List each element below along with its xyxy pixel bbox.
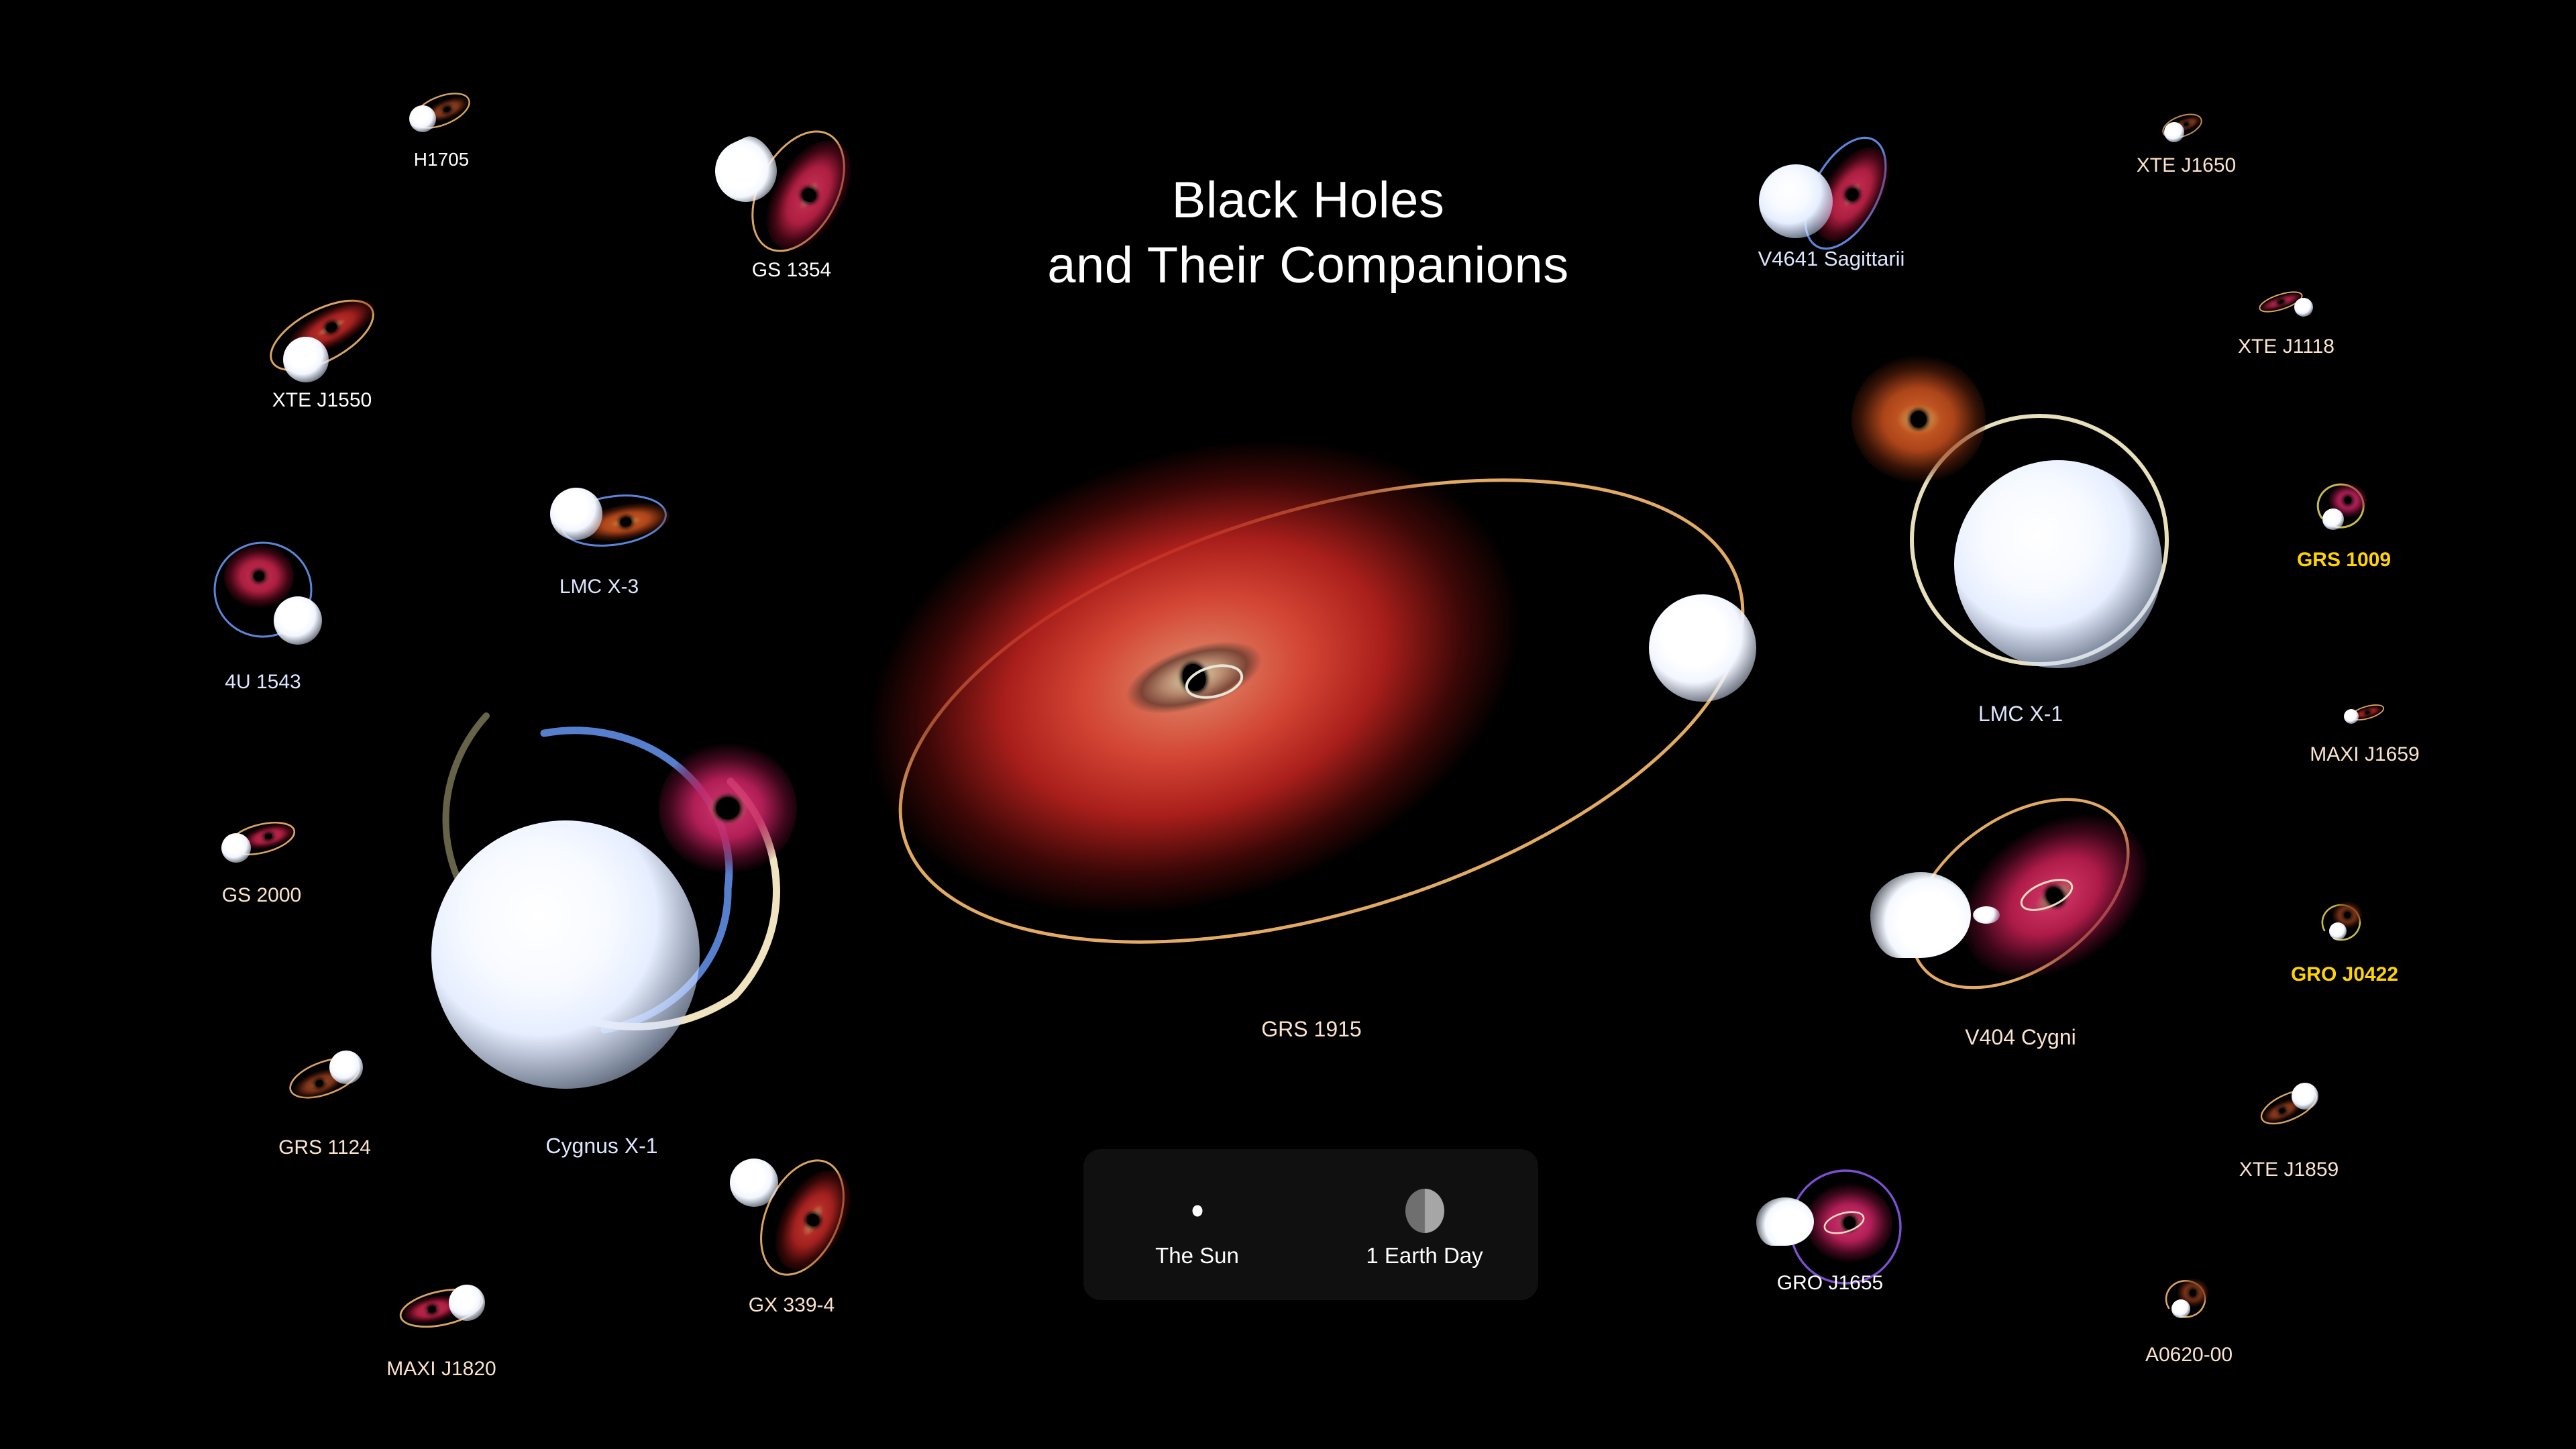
system-label-a0620: A0620-00 [2145, 1344, 2233, 1366]
inner-ring-icon [2006, 871, 2087, 918]
accretion-disk [659, 743, 797, 874]
title-line-1: Black Holes [1033, 168, 1583, 233]
scale-legend-panel: The Sun 1 Earth Day [1083, 1149, 1538, 1300]
system-label-h1705: H1705 [414, 149, 470, 170]
legend-label-sun: The Sun [1155, 1243, 1239, 1269]
companion-star [2322, 508, 2344, 530]
companion-star [2294, 298, 2313, 317]
companion-star [449, 1285, 485, 1321]
companion-star [2292, 1083, 2318, 1110]
system-label-v4641: V4641 Sagittarii [1758, 247, 1905, 271]
companion-star [1759, 164, 1833, 238]
system-label-gs2000: GS 2000 [222, 884, 301, 907]
system-label-xtej1118: XTE J1118 [2238, 335, 2334, 358]
mass-transfer-stream [1973, 906, 2000, 924]
system-label-xtej1650: XTE J1650 [2137, 154, 2236, 177]
legend-label-earth-day: 1 Earth Day [1366, 1243, 1483, 1269]
system-label-gx339: GX 339-4 [749, 1294, 835, 1317]
companion-star [2344, 709, 2359, 724]
half-lit-sphere-icon [1405, 1189, 1444, 1233]
companion-star [1870, 872, 1971, 958]
system-label-lmcx3: LMC X-3 [559, 576, 639, 598]
system-label-4u1543: 4U 1543 [225, 671, 301, 694]
companion-star [409, 105, 436, 132]
legend-item-sun: The Sun [1083, 1149, 1311, 1300]
system-label-v404: V404 Cygni [1965, 1025, 2076, 1050]
system-label-maxij1820: MAXI J1820 [386, 1358, 496, 1381]
companion-star [2164, 122, 2184, 142]
system-label-groj1655: GRO J1655 [1777, 1272, 1883, 1295]
companion-star [431, 820, 700, 1089]
companion-star [329, 1051, 363, 1084]
system-label-xtej1550: XTE J1550 [272, 389, 372, 412]
inner-ring-icon [1167, 651, 1261, 712]
companion-star [221, 833, 251, 863]
title-line-2: and Their Companions [1033, 233, 1583, 298]
companion-star [274, 596, 322, 645]
companion-star [550, 488, 602, 540]
system-label-grs1009: GRS 1009 [2297, 549, 2391, 572]
starfield-canvas: Black Holes and Their Companions H1705 G… [0, 0, 2576, 1449]
system-label-lmcx1: LMC X-1 [1978, 702, 2063, 727]
accretion-disk [224, 544, 294, 608]
system-label-xtej1859: XTE J1859 [2239, 1159, 2339, 1181]
companion-star [283, 337, 329, 382]
system-label-groj0422: GRO J0422 [2291, 963, 2398, 986]
system-label-gs1354: GS 1354 [752, 259, 831, 282]
companion-star [1954, 460, 2162, 668]
legend-item-earth-day: 1 Earth Day [1311, 1149, 1538, 1300]
companion-star [1649, 594, 1756, 702]
companion-star [730, 1159, 778, 1207]
inner-ring-icon [1814, 1205, 1874, 1242]
system-label-grs1915: GRS 1915 [1261, 1017, 1361, 1042]
system-label-maxij1659: MAXI J1659 [2310, 743, 2419, 766]
companion-star [2329, 922, 2347, 940]
system-label-cygnusx1: Cygnus X-1 [545, 1134, 657, 1159]
companion-star [2171, 1299, 2190, 1318]
system-label-grs1124: GRS 1124 [278, 1136, 371, 1159]
page-title: Black Holes and Their Companions [1033, 168, 1583, 299]
sun-dot-icon [1192, 1205, 1202, 1217]
accretion-disk [1851, 355, 1986, 484]
companion-star [1756, 1197, 1814, 1246]
